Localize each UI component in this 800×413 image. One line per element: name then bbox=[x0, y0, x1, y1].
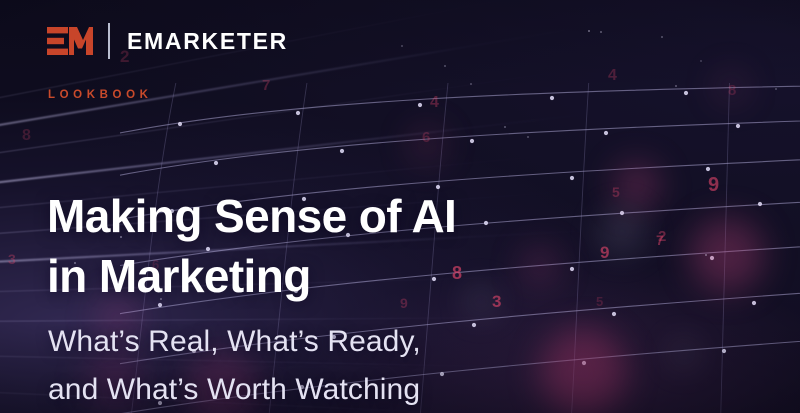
emarketer-wordmark: EMARKETER bbox=[127, 30, 288, 53]
page-title: Making Sense of AI in Marketing bbox=[47, 186, 456, 306]
emarketer-logo[interactable]: EMARKETER bbox=[47, 20, 288, 62]
slide-content: EMARKETER LOOKBOOK Making Sense of AI in… bbox=[0, 0, 800, 413]
logo-divider bbox=[108, 23, 110, 59]
em-logo-mark-icon bbox=[47, 26, 93, 56]
lookbook-cover-slide: 2874614895279839365 EMARKETER LOOKBOOK M… bbox=[0, 0, 800, 413]
page-subtitle: What’s Real, What’s Ready, and What’s Wo… bbox=[48, 318, 421, 413]
lookbook-eyebrow-label: LOOKBOOK bbox=[48, 90, 153, 102]
